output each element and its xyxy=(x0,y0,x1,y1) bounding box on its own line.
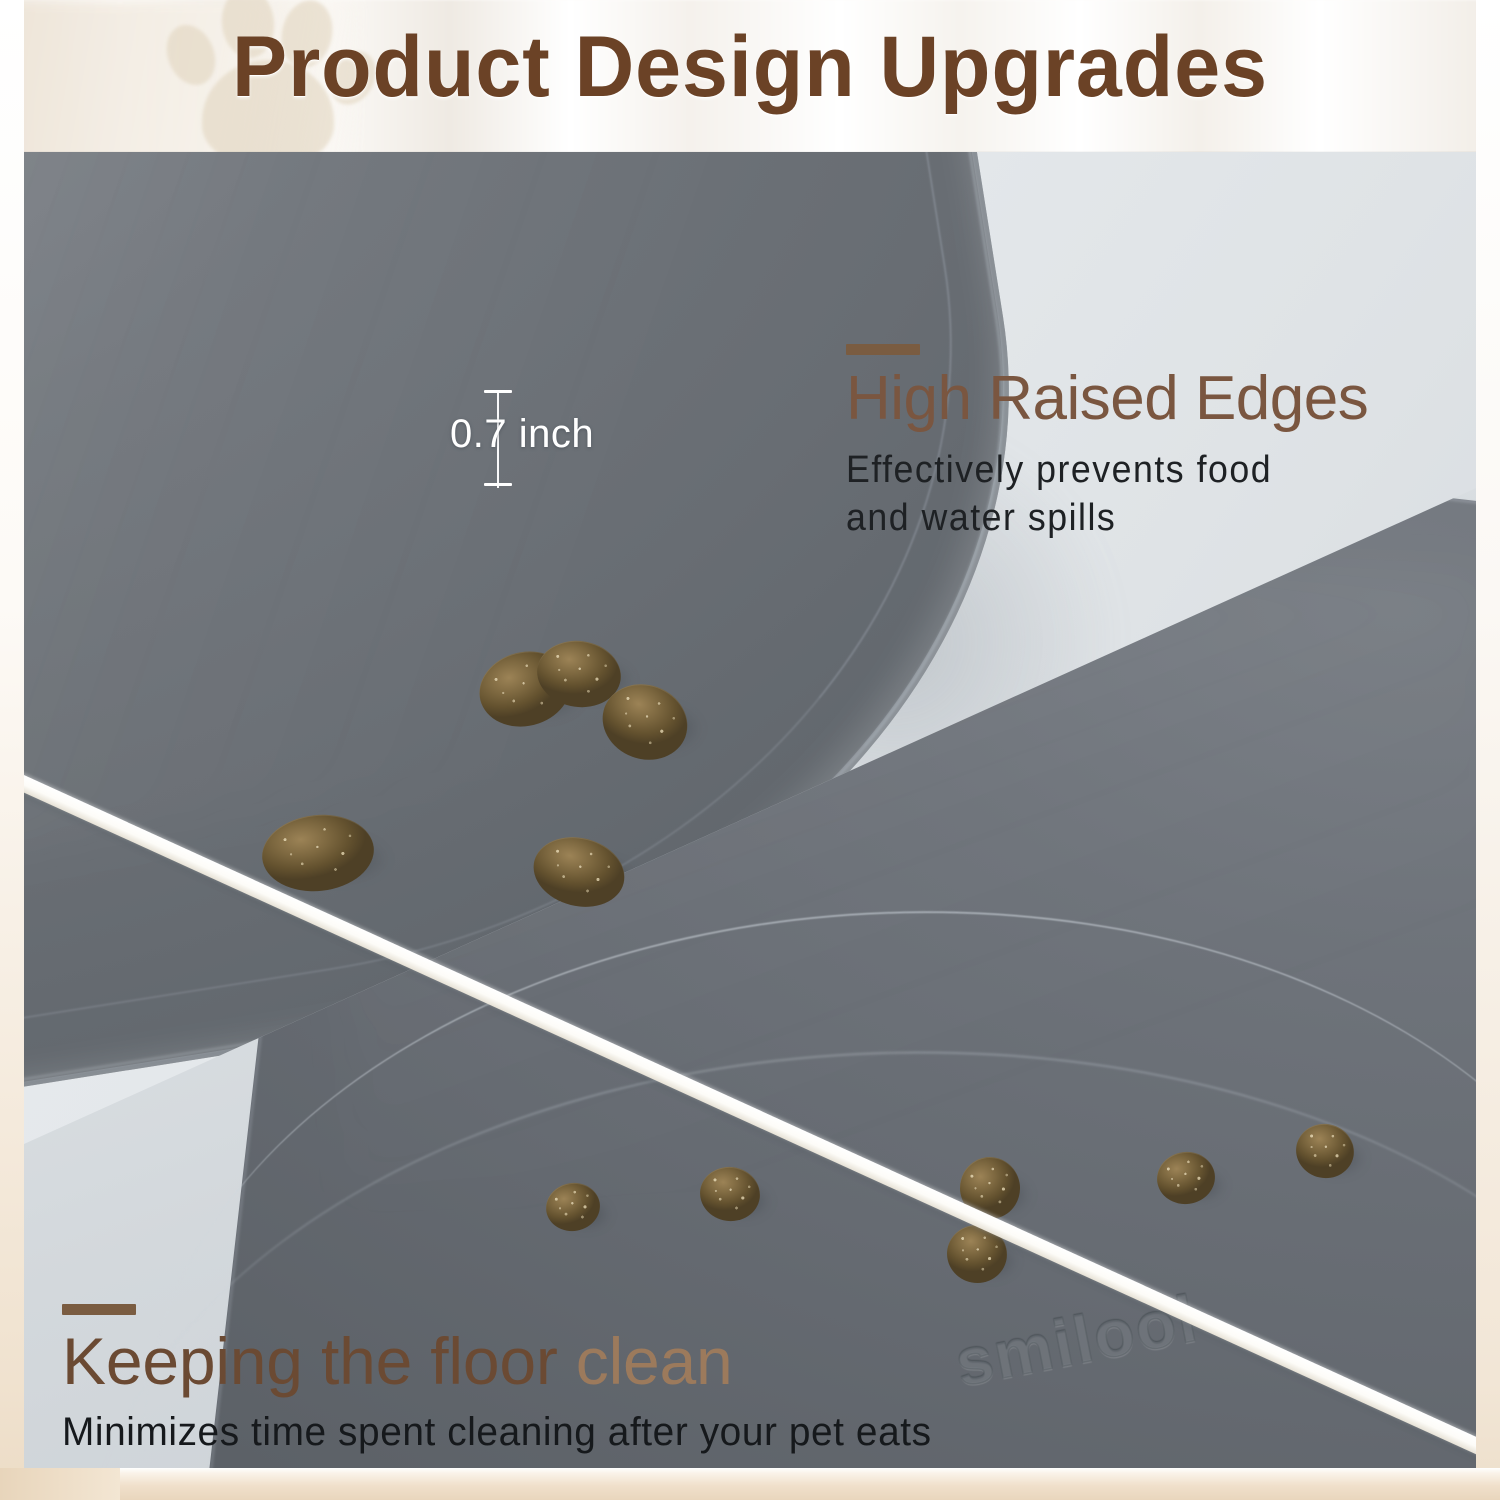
feature-subtitle: Minimizes time spent cleaning after your… xyxy=(62,1410,1226,1455)
feature-title-main: Keeping the floor xyxy=(62,1324,576,1398)
dimension-cap-bottom xyxy=(484,483,512,486)
header: Product Design Upgrades xyxy=(0,0,1500,148)
product-infographic: Product Design Upgrades 0.7 inch High Ra… xyxy=(0,0,1500,1500)
feature-subtitle-line-2: and water spills xyxy=(846,495,1448,543)
feature-title: High Raised Edges xyxy=(846,367,1476,431)
dimension-label: 0.7 inch xyxy=(450,412,640,457)
feature-block-high-raised-edges: High Raised Edges Effectively prevents f… xyxy=(846,344,1476,543)
feature-title: Keeping the floor clean xyxy=(62,1327,1262,1396)
dimension-callout: 0.7 inch xyxy=(476,384,656,496)
accent-bar-icon xyxy=(846,344,920,355)
feature-subtitle-line-1: Effectively prevents food xyxy=(846,447,1448,495)
frame-margin-left xyxy=(0,0,24,1500)
feature-subtitle: Effectively prevents food and water spil… xyxy=(846,447,1448,543)
page-title: Product Design Upgrades xyxy=(30,18,1470,117)
floor-strip xyxy=(0,1468,1500,1500)
feature-block-keeping-floor-clean: Keeping the floor clean Minimizes time s… xyxy=(62,1304,1262,1455)
accent-bar-icon xyxy=(62,1304,136,1315)
product-photo-frame: 0.7 inch High Raised Edges Effectively p… xyxy=(24,152,1476,1468)
frame-margin-right xyxy=(1476,0,1500,1500)
floor-strip-left xyxy=(0,1468,120,1500)
feature-title-accent: clean xyxy=(576,1324,733,1398)
